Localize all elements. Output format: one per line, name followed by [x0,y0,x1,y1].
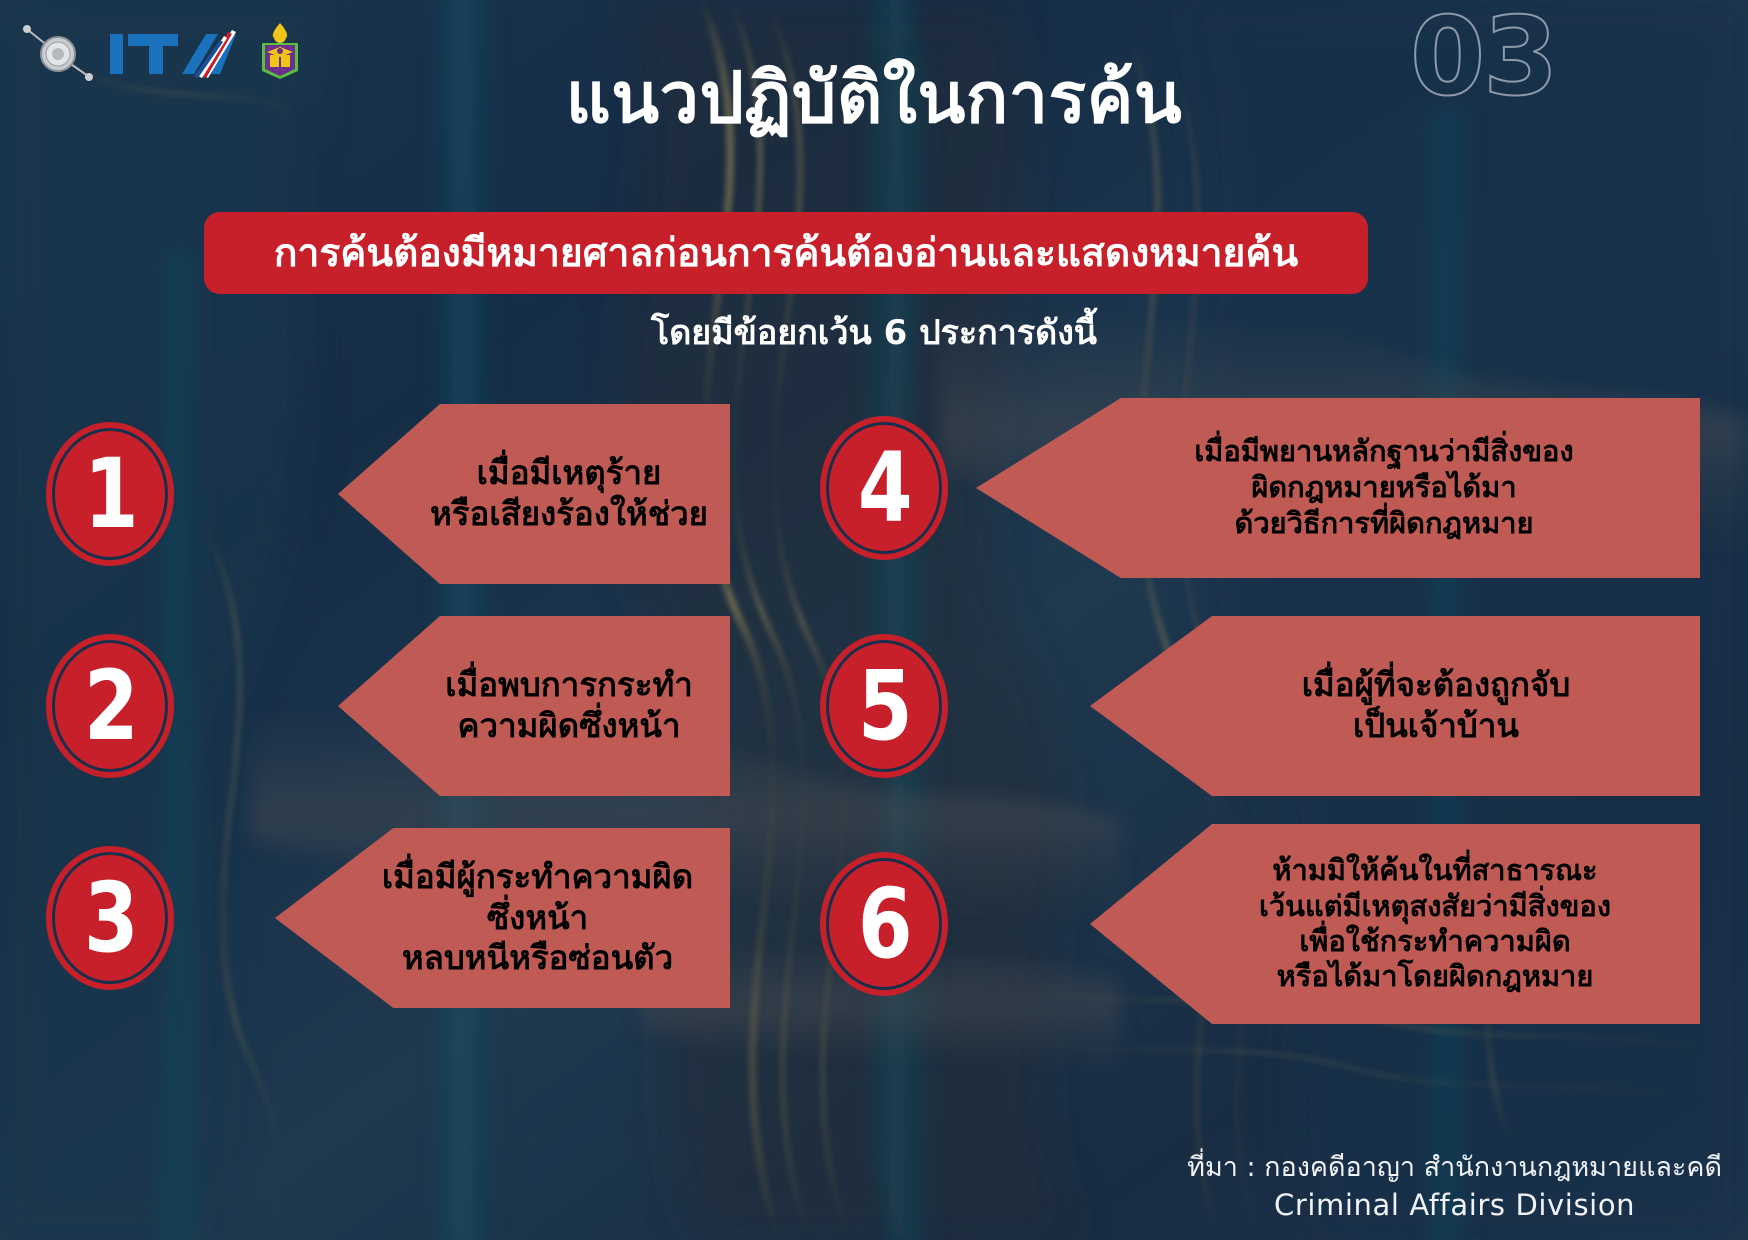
exception-text-line: เว้นแต่มีเหตุสงสัยว่ามีสิ่งของ [1259,889,1611,924]
exception-text-line: เมื่อผู้ที่จะต้องถูกจับ [1302,665,1571,706]
exception-item-5[interactable]: เมื่อผู้ที่จะต้องถูกจับ เป็นเจ้าบ้าน 5 [0,616,1748,796]
royal-mace-logo [22,22,94,84]
department-seal-logo [252,21,308,85]
exception-text-line: เป็นเจ้าบ้าน [1302,706,1571,747]
exception-text-line: หรือได้มาโดยผิดกฎหมาย [1259,959,1611,994]
exception-card-5: เมื่อผู้ที่จะต้องถูกจับ เป็นเจ้าบ้าน [1090,616,1700,796]
number-badge-6: 6 [820,852,948,996]
exception-text-line: เพื่อใช้กระทำความผิด [1259,924,1611,959]
exception-text-line: ด้วยวิธีการที่ผิดกฎหมาย [1194,506,1573,542]
source-english: Criminal Affairs Division [1187,1186,1722,1224]
number-badge-5: 5 [820,634,948,778]
source-thai: ที่มา : กองคดีอาญา สำนักงานกฎหมายและคดี [1187,1150,1722,1186]
number-badge-label: 4 [857,440,910,536]
exception-item-6[interactable]: ห้ามมิให้ค้นในที่สาธารณะ เว้นแต่มีเหตุสง… [0,824,1748,1024]
ita-logo [108,24,238,82]
highlight-banner: การค้นต้องมีหมายศาลก่อนการค้นต้องอ่านและ… [204,212,1368,294]
exception-item-4[interactable]: เมื่อมีพยานหลักฐานว่ามีสิ่งของ ผิดกฎหมาย… [0,398,1748,578]
source-attribution: ที่มา : กองคดีอาญา สำนักงานกฎหมายและคดี … [1187,1150,1722,1224]
exception-text-line: ผิดกฎหมายหรือได้มา [1194,470,1573,506]
logo-group [22,18,308,88]
page-number: 03 [1410,6,1630,116]
number-badge-label: 5 [857,658,910,754]
number-badge-label: 6 [857,876,910,972]
page-number-text: 03 [1410,6,1556,116]
exception-text-line: ห้ามมิให้ค้นในที่สาธารณะ [1259,853,1611,888]
exception-text-line: เมื่อมีพยานหลักฐานว่ามีสิ่งของ [1194,434,1573,470]
exception-card-6: ห้ามมิให้ค้นในที่สาธารณะ เว้นแต่มีเหตุสง… [1090,824,1700,1024]
number-badge-4: 4 [820,416,948,560]
page-subtitle: โดยมีข้อยกเว้น 6 ประการดังนี้ [0,305,1748,359]
exception-card-4: เมื่อมีพยานหลักฐานว่ามีสิ่งของ ผิดกฎหมาย… [976,398,1700,578]
